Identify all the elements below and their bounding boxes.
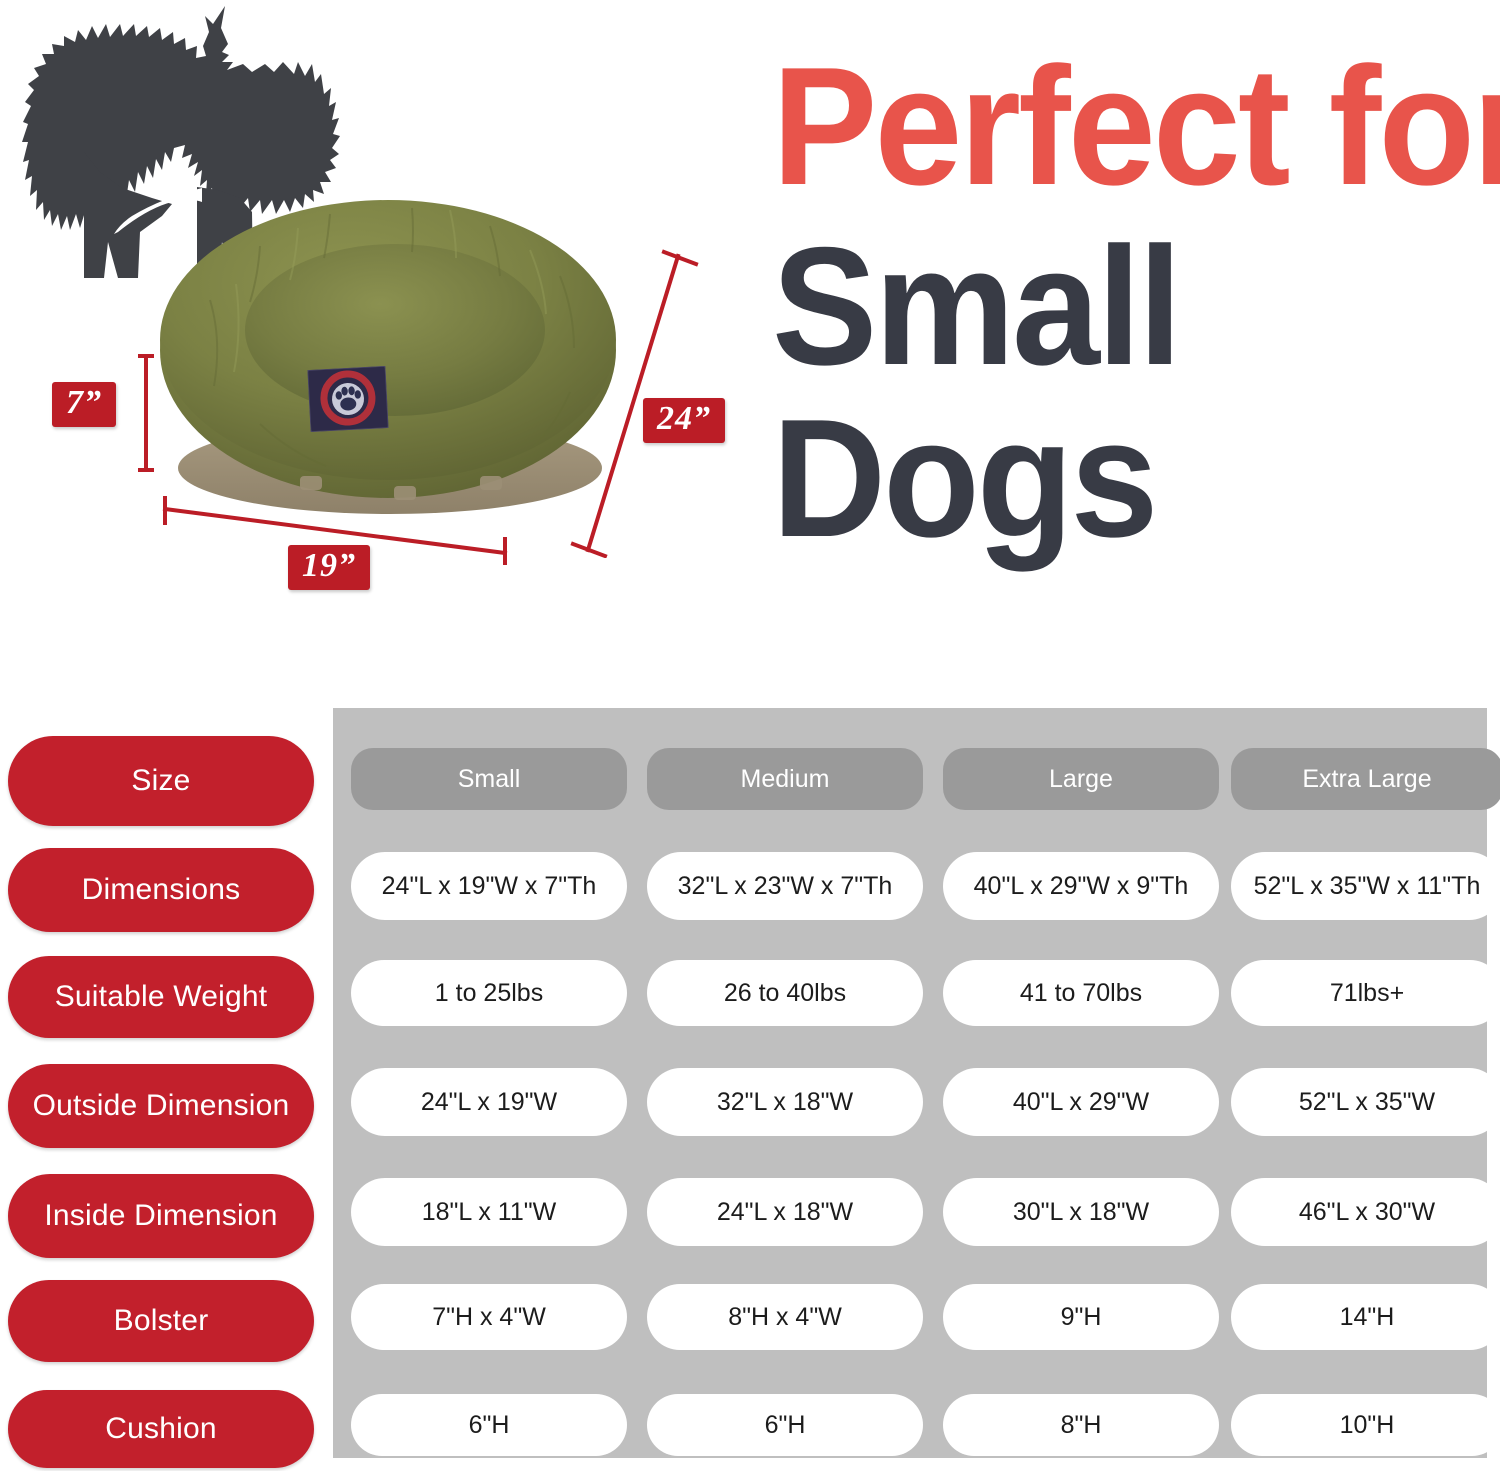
column-header-medium: Medium xyxy=(647,748,923,810)
table-cell: 24"L x 19"W xyxy=(351,1068,627,1136)
table-cell-grid: SmallMediumLargeExtra Large24"L x 19"W x… xyxy=(333,708,1487,1458)
table-cell: 1 to 25lbs xyxy=(351,960,627,1026)
row-label-dimensions: Dimensions xyxy=(8,848,314,932)
table-cell: 46"L x 30"W xyxy=(1231,1178,1500,1246)
table-cell: 6"H xyxy=(647,1394,923,1456)
majestic-pet-brand-tag xyxy=(307,366,388,432)
headline-block: Perfect for Small Dogs xyxy=(772,48,1488,558)
table-cell: 32"L x 23"W x 7"Th xyxy=(647,852,923,920)
table-cell: 30"L x 18"W xyxy=(943,1178,1219,1246)
dimension-badge-length: 24” xyxy=(643,398,725,443)
dog-bed-product-image xyxy=(150,180,620,520)
table-cell: 18"L x 11"W xyxy=(351,1178,627,1246)
table-cell: 7"H x 4"W xyxy=(351,1284,627,1350)
table-cell: 24"L x 18"W xyxy=(647,1178,923,1246)
table-cell: 9"H xyxy=(943,1284,1219,1350)
table-cell: 14"H xyxy=(1231,1284,1500,1350)
table-cell: 71lbs+ xyxy=(1231,960,1500,1026)
height-dimension-line xyxy=(138,353,154,473)
table-cell: 40"L x 29"W x 9"Th xyxy=(943,852,1219,920)
table-cell: 10"H xyxy=(1231,1394,1500,1456)
table-cell: 24"L x 19"W x 7"Th xyxy=(351,852,627,920)
table-cell: 6"H xyxy=(351,1394,627,1456)
row-label-column: SizeDimensionsSuitable WeightOutside Dim… xyxy=(8,708,320,1458)
specification-table: SizeDimensionsSuitable WeightOutside Dim… xyxy=(0,690,1500,1471)
column-header-extra-large: Extra Large xyxy=(1231,748,1500,810)
row-label-cushion: Cushion xyxy=(8,1390,314,1468)
table-cell: 8"H x 4"W xyxy=(647,1284,923,1350)
table-cell: 8"H xyxy=(943,1394,1219,1456)
table-cell: 41 to 70lbs xyxy=(943,960,1219,1026)
row-label-size: Size xyxy=(8,736,314,826)
table-cell: 52"L x 35"W xyxy=(1231,1068,1500,1136)
hero-section: 7” 24” 19” Perfect for Small Dogs xyxy=(0,0,1500,690)
row-label-outside-dimension: Outside Dimension xyxy=(8,1064,314,1148)
dimension-badge-width: 19” xyxy=(288,545,370,590)
column-header-small: Small xyxy=(351,748,627,810)
headline-line-3: Dogs xyxy=(772,400,1445,558)
headline-line-2: Small xyxy=(772,228,1445,386)
column-header-large: Large xyxy=(943,748,1219,810)
table-cell: 26 to 40lbs xyxy=(647,960,923,1026)
row-label-inside-dimension: Inside Dimension xyxy=(8,1174,314,1258)
table-cell: 32"L x 18"W xyxy=(647,1068,923,1136)
row-label-suitable-weight: Suitable Weight xyxy=(8,956,314,1038)
headline-line-1: Perfect for xyxy=(772,48,1445,206)
table-cell: 40"L x 29"W xyxy=(943,1068,1219,1136)
dimension-badge-height: 7” xyxy=(52,382,116,427)
row-label-bolster: Bolster xyxy=(8,1280,314,1362)
table-cell: 52"L x 35"W x 11"Th xyxy=(1231,852,1500,920)
